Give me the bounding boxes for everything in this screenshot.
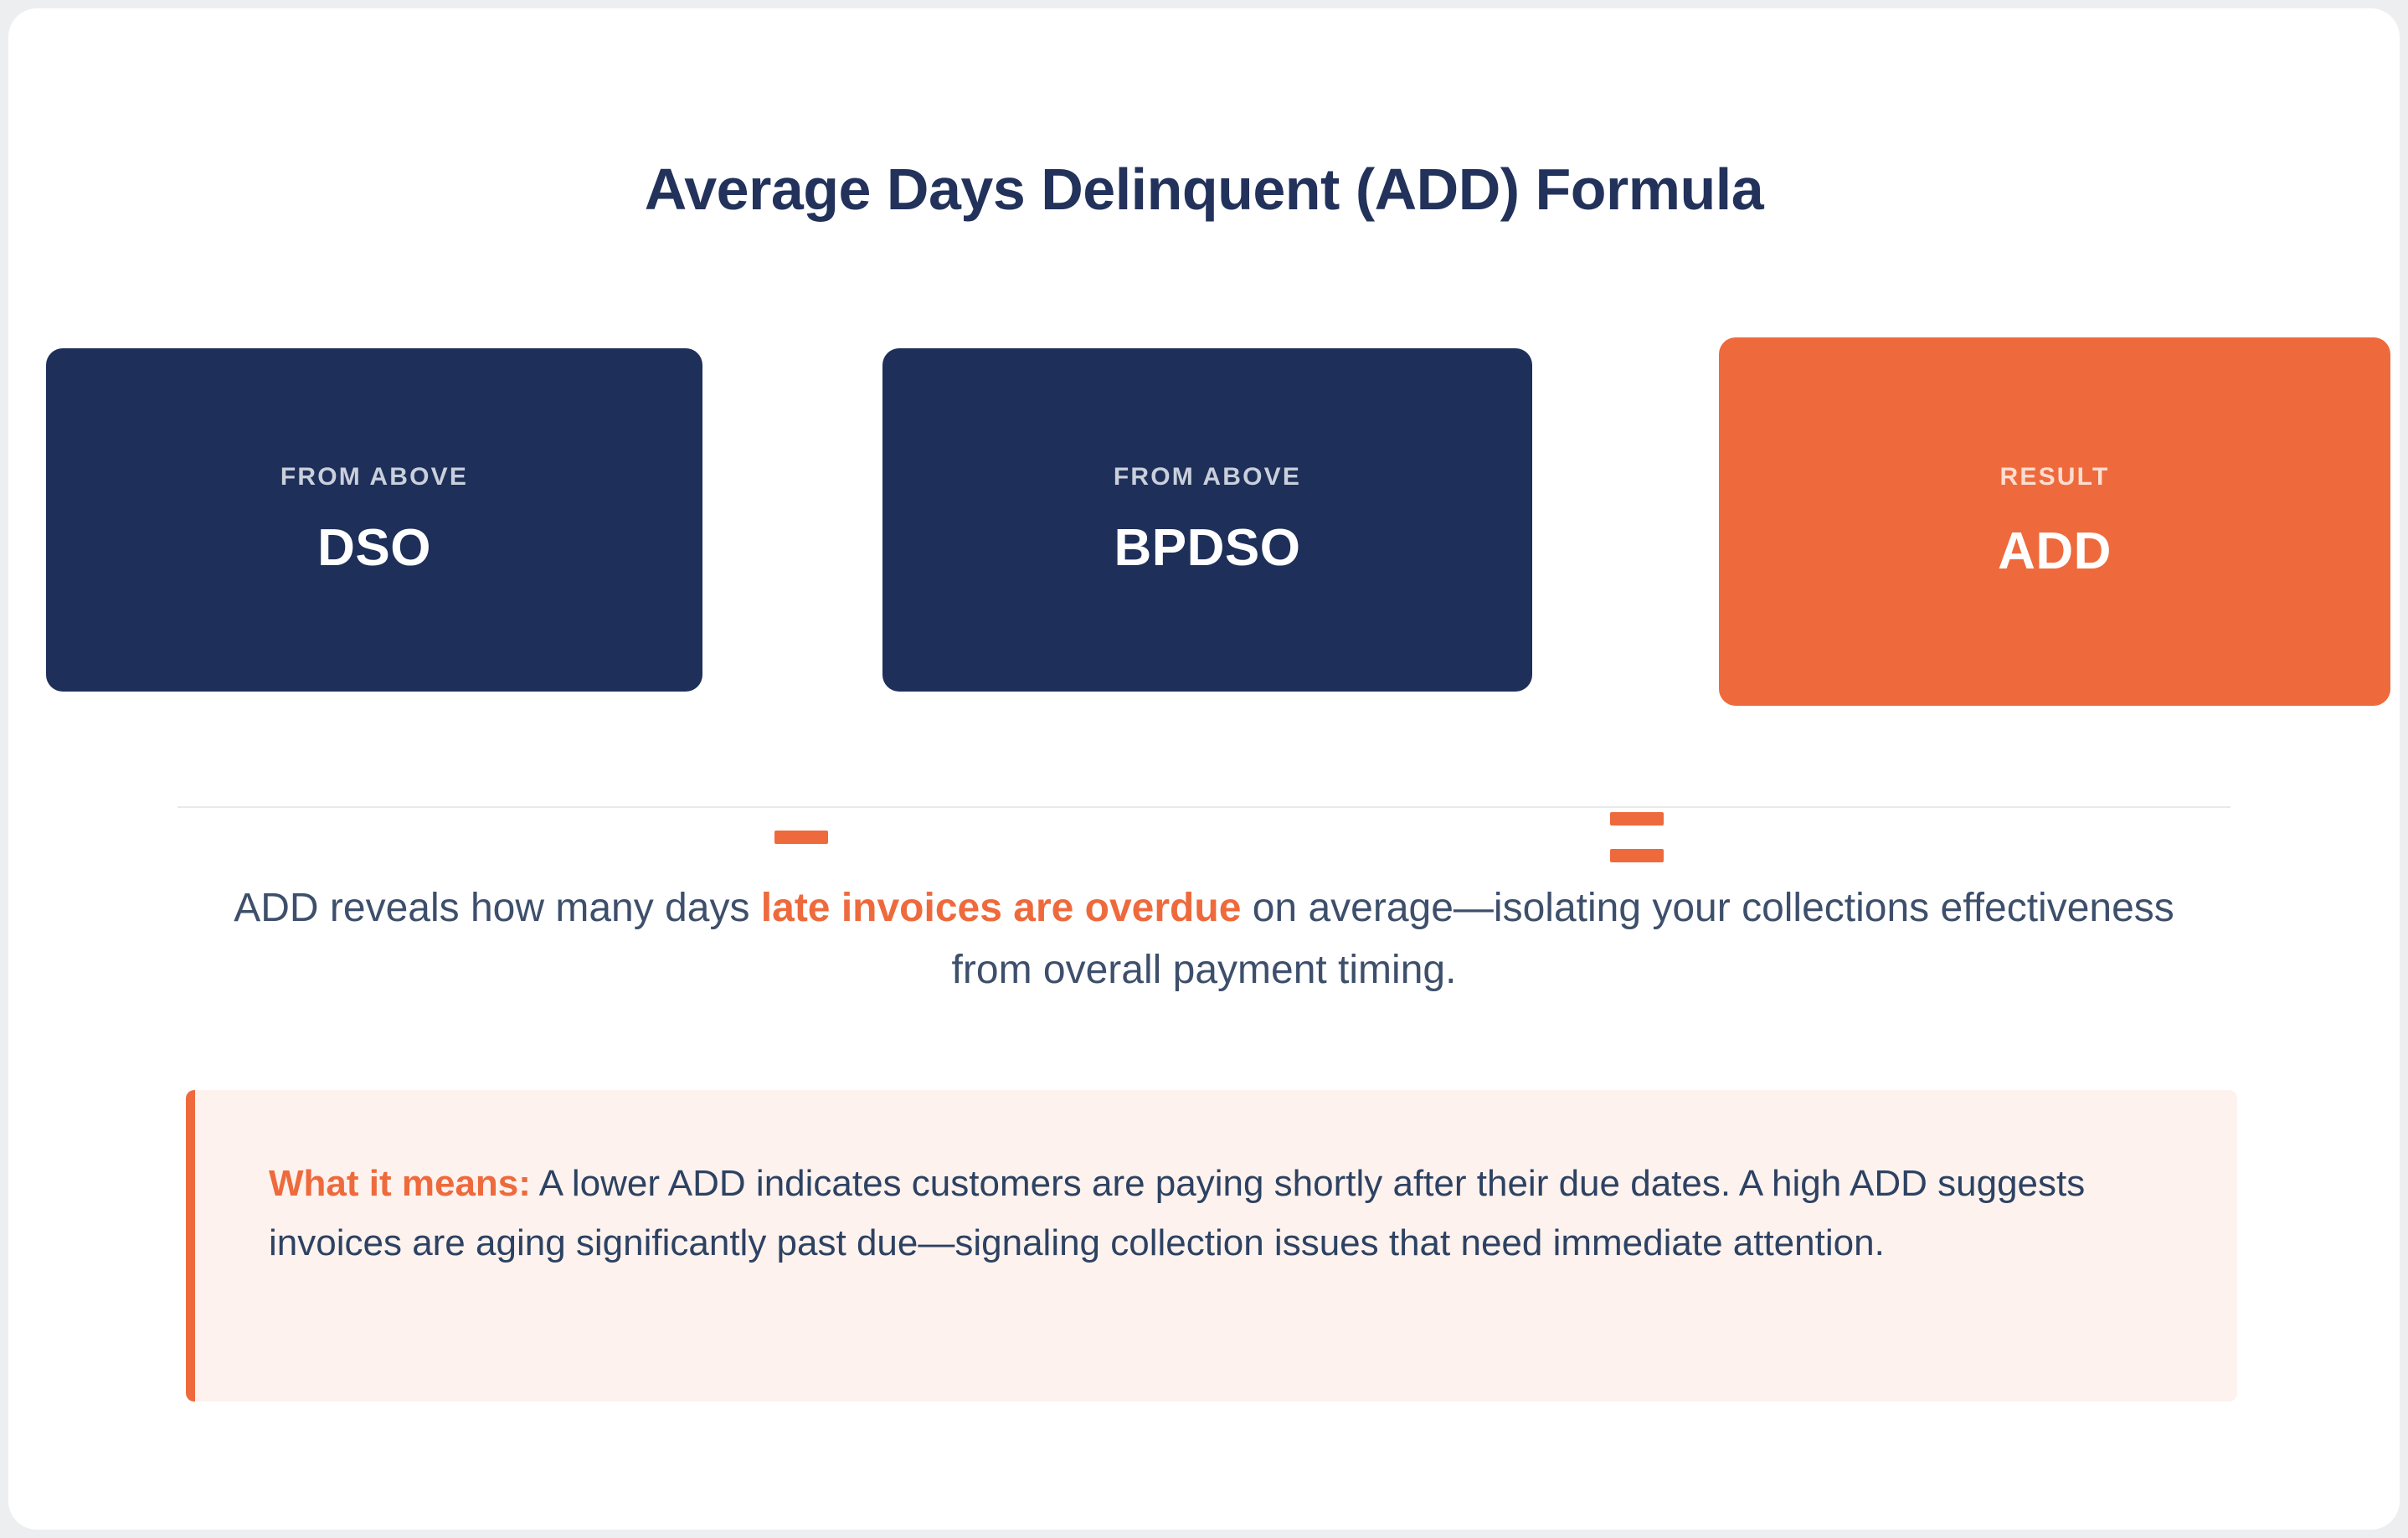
formula-term-dso: FROM ABOVE DSO	[46, 348, 702, 692]
formula-panel: Average Days Delinquent (ADD) Formula FR…	[8, 8, 2400, 1530]
formula-term-bpdso: FROM ABOVE BPDSO	[882, 348, 1532, 692]
description-highlight: late invoices are overdue	[761, 886, 1242, 930]
formula-description: ADD reveals how many days late invoices …	[224, 877, 2184, 1002]
term-kicker-add: RESULT	[2000, 463, 2110, 491]
equals-operator-icon	[1584, 795, 1690, 879]
term-value-dso: DSO	[317, 518, 431, 578]
equals-bar-bottom	[1610, 849, 1664, 862]
page-title: Average Days Delinquent (ADD) Formula	[8, 157, 2400, 222]
what-it-means-callout: What it means: A lower ADD indicates cus…	[186, 1090, 2237, 1402]
description-part-1: ADD reveals how many days	[234, 886, 761, 930]
term-value-add: ADD	[1998, 522, 2112, 581]
callout-body-text: A lower ADD indicates customers are payi…	[269, 1163, 2085, 1263]
minus-operator-icon	[749, 812, 854, 862]
minus-bar	[774, 831, 828, 844]
term-kicker-dso: FROM ABOVE	[280, 463, 468, 491]
term-value-bpdso: BPDSO	[1114, 518, 1301, 578]
formula-term-add: RESULT ADD	[1719, 337, 2390, 706]
section-divider	[178, 806, 2230, 808]
term-kicker-bpdso: FROM ABOVE	[1114, 463, 1301, 491]
callout-lead-label: What it means:	[269, 1163, 531, 1204]
callout-text: What it means: A lower ADD indicates cus…	[269, 1154, 2161, 1273]
equals-bar-top	[1610, 812, 1664, 826]
formula-equation-row: FROM ABOVE DSO FROM ABOVE BPDSO RESULT A…	[8, 327, 2400, 720]
